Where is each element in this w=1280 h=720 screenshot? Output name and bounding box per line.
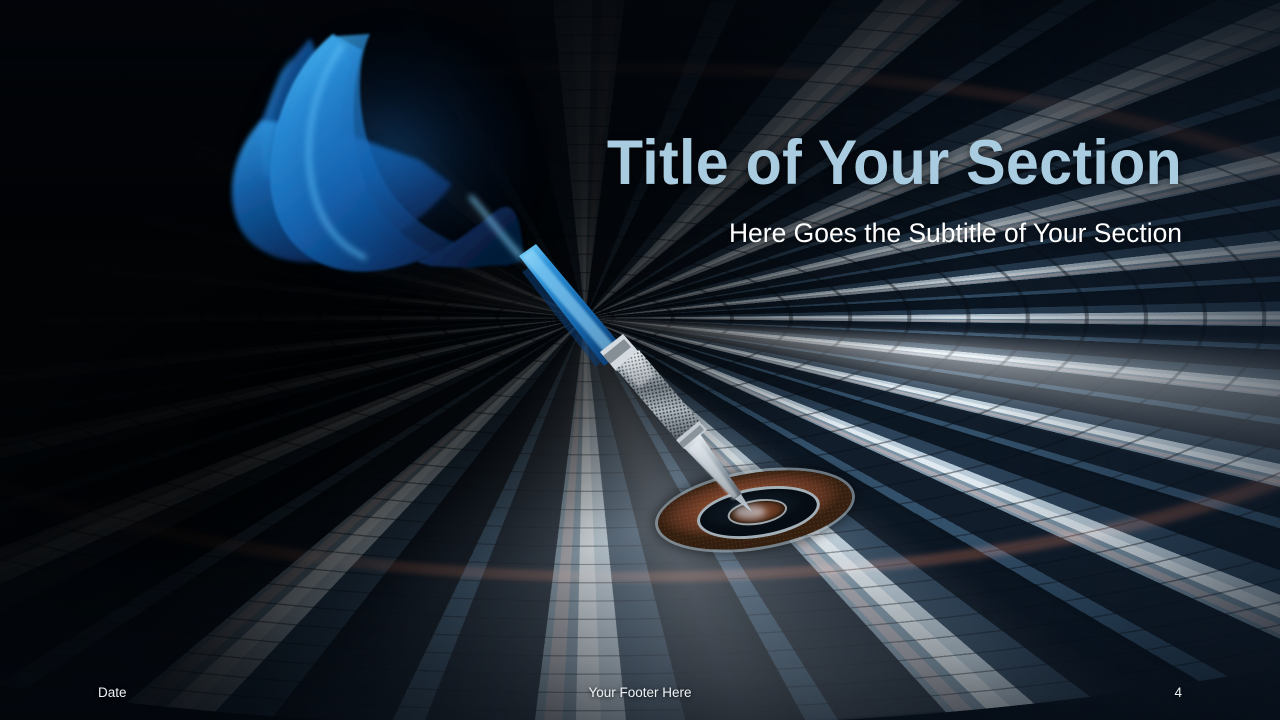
- footer-text[interactable]: Your Footer Here: [0, 685, 1280, 700]
- footer-page-number[interactable]: 4: [1174, 685, 1182, 700]
- page-subtitle[interactable]: Here Goes the Subtitle of Your Section: [496, 219, 1182, 249]
- text-block: Title of Your Section Here Goes the Subt…: [482, 132, 1182, 249]
- slide-footer: Date Your Footer Here 4: [0, 681, 1280, 703]
- right-shadow-gradient: [980, 0, 1280, 720]
- page-title[interactable]: Title of Your Section: [524, 132, 1182, 195]
- slide: Title of Your Section Here Goes the Subt…: [0, 0, 1280, 720]
- background-photo: [0, 0, 1280, 720]
